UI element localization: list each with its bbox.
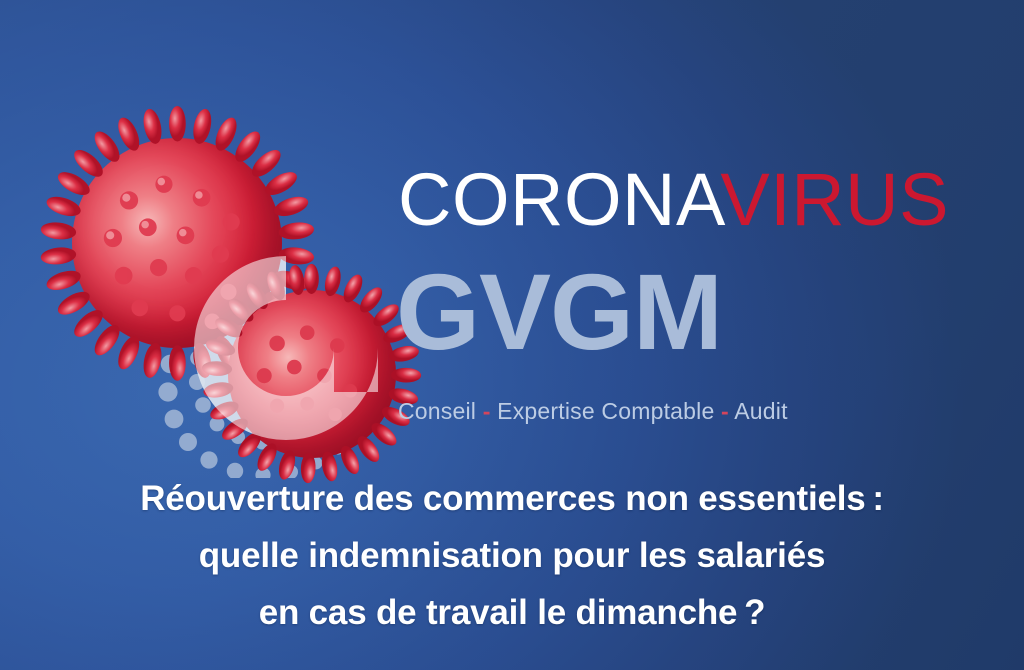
coronavirus-word-primary: CORONA (398, 158, 720, 241)
coronavirus-wordmark: CORONAVIRUS (398, 163, 949, 237)
tagline-part-audit: Audit (734, 398, 787, 424)
banner-canvas: CORONAVIRUS GVGM Conseil - Expertise Com… (0, 0, 1024, 670)
coronavirus-word-accent: VIRUS (720, 158, 949, 241)
headline-line-3: en cas de travail le dimanche ? (0, 584, 1024, 641)
headline-line-2: quelle indemnisation pour les salariés (0, 527, 1024, 584)
coronavirus-particle-small (228, 290, 396, 458)
tagline-part-conseil: Conseil (398, 398, 476, 424)
headline: Réouverture des commerces non essentiels… (0, 470, 1024, 641)
headline-line-1: Réouverture des commerces non essentiels… (0, 470, 1024, 527)
tagline-separator-2: - (721, 398, 729, 424)
company-name: GVGM (396, 258, 722, 366)
tagline-part-expertise: Expertise Comptable (497, 398, 714, 424)
tagline-separator-1: - (483, 398, 491, 424)
company-tagline: Conseil - Expertise Comptable - Audit (398, 400, 788, 423)
